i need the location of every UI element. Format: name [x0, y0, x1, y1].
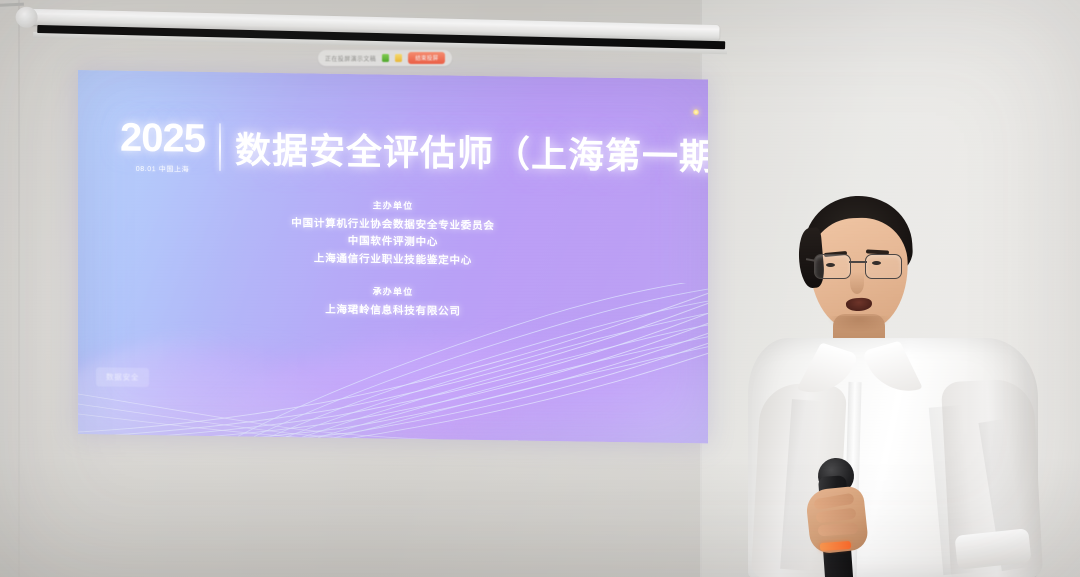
- note-icon[interactable]: [395, 54, 402, 62]
- slide-year-block: 2025 08.01 中国上海: [120, 117, 205, 176]
- slide-corner-watermark: 数据安全: [96, 367, 149, 387]
- slide-main-title: 数据安全评估师（上海第一期）培训班: [235, 121, 708, 182]
- projection-screen: 2025 08.01 中国上海 数据安全评估师（上海第一期）培训班 主办单位 中…: [78, 70, 708, 443]
- screencast-toolbar[interactable]: 正在投屏演示文稿 结束投屏: [318, 50, 452, 66]
- screencast-status-text: 正在投屏演示文稿: [325, 54, 376, 63]
- presenter-chin-shadow: [828, 316, 890, 332]
- slide-year: 2025: [120, 119, 205, 159]
- presenter-nose: [850, 272, 864, 294]
- presentation-slide: 2025 08.01 中国上海 数据安全评估师（上海第一期）培训班 主办单位 中…: [78, 70, 708, 443]
- projector-hotspot-dot: [693, 109, 699, 115]
- glasses-lens-right: [865, 254, 902, 279]
- stop-cast-button[interactable]: 结束投屏: [408, 52, 445, 64]
- presenter: [700, 170, 1080, 577]
- roller-hanger: [0, 3, 24, 7]
- slide-date-location: 08.01 中国上海: [136, 164, 189, 175]
- slide-organizer-block: 主办单位 中国计算机行业协会数据安全专业委员会 中国软件评测中心 上海通信行业职…: [78, 194, 708, 273]
- conference-photo-scene: 2025 08.01 中国上海 数据安全评估师（上海第一期）培训班 主办单位 中…: [0, 0, 1080, 577]
- glasses-lens-left: [814, 254, 851, 279]
- glasses-bridge: [849, 261, 867, 263]
- slide-title-divider: [219, 123, 221, 171]
- slide-title-row: 2025 08.01 中国上海 数据安全评估师（上海第一期）培训班: [120, 117, 708, 185]
- present-icon[interactable]: [382, 54, 389, 62]
